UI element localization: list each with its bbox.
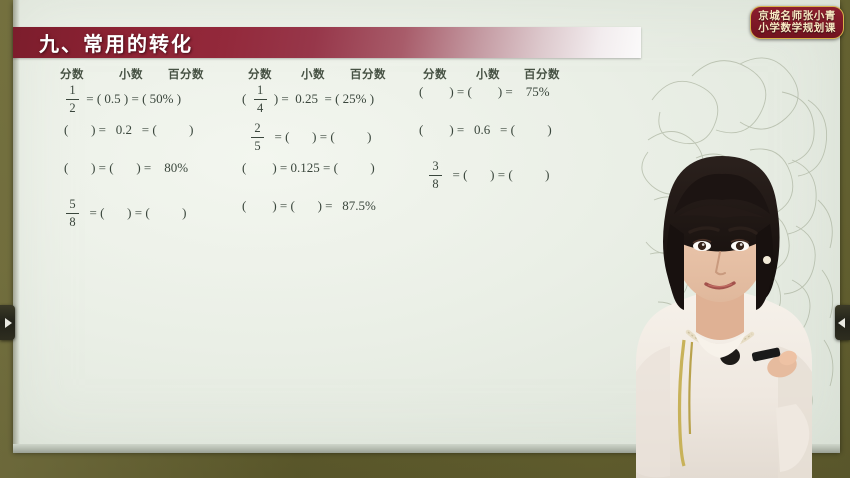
equation-text: ( ) = 0.125 = ( ) bbox=[241, 160, 376, 176]
conversion-table: 分数小数百分数分数小数百分数分数小数百分数 12 = ( 0.5 ) = ( 5… bbox=[13, 66, 653, 236]
left-panel-toggle-button[interactable] bbox=[0, 305, 15, 340]
fraction-bar bbox=[254, 99, 267, 100]
column-header: 小数 bbox=[301, 66, 325, 82]
fraction-denominator: 2 bbox=[67, 101, 77, 115]
video-slide-frame: 九、常用的转化 分数小数百分数分数小数百分数分数小数百分数 12 = ( 0.5… bbox=[0, 0, 850, 478]
column-header: 分数 bbox=[248, 66, 272, 82]
watermark-line-2: 小学数学规划课 bbox=[758, 22, 836, 34]
equation-expression: ( 14 ) = 0.25 = ( 25% ) bbox=[241, 84, 375, 114]
equation-row: 12 = ( 0.5 ) = ( 50% )( 14 ) = 0.25 = ( … bbox=[13, 84, 653, 122]
column-header: 百分数 bbox=[350, 66, 386, 82]
equation-text: ( ) = ( ) = 75% bbox=[418, 84, 551, 100]
equation-text: ( ) = 0.2 = ( ) bbox=[63, 122, 194, 138]
equation-expression: ( ) = 0.6 = ( ) bbox=[418, 122, 553, 138]
slide-title-banner: 九、常用的转化 bbox=[13, 27, 641, 58]
column-header: 百分数 bbox=[524, 66, 560, 82]
equation-text: ( ) = 0.6 = ( ) bbox=[418, 122, 553, 138]
table-header-row: 分数小数百分数分数小数百分数分数小数百分数 bbox=[13, 66, 653, 84]
fraction-denominator: 4 bbox=[255, 101, 265, 115]
fraction: 12 bbox=[66, 84, 79, 114]
equation-expression: 25 = ( ) = ( ) bbox=[248, 122, 372, 152]
equation-row: 58 = ( ) = ( )( ) = ( ) = 87.5% bbox=[13, 198, 653, 236]
chevron-right-icon bbox=[5, 318, 12, 328]
equation-expression: ( ) = 0.2 = ( ) bbox=[63, 122, 194, 138]
fraction-bar bbox=[66, 213, 79, 214]
equation-expression: ( ) = 0.125 = ( ) bbox=[241, 160, 376, 176]
equation-text: ) = 0.25 = ( 25% ) bbox=[270, 91, 375, 107]
equation-expression: 58 = ( ) = ( ) bbox=[63, 198, 187, 228]
equation-expression: 12 = ( 0.5 ) = ( 50% ) bbox=[63, 84, 182, 114]
column-header: 分数 bbox=[60, 66, 84, 82]
fraction-numerator: 1 bbox=[67, 84, 77, 98]
right-panel-toggle-button[interactable] bbox=[835, 305, 850, 340]
column-header: 百分数 bbox=[168, 66, 204, 82]
fraction-bar bbox=[251, 137, 264, 138]
fraction-bar bbox=[429, 175, 442, 176]
fraction-denominator: 8 bbox=[67, 215, 77, 229]
fraction: 38 bbox=[429, 160, 442, 190]
equation-row: ( ) = ( ) = 80%( ) = 0.125 = ( )38 = ( )… bbox=[13, 160, 653, 198]
column-header: 分数 bbox=[423, 66, 447, 82]
equation-text: = ( 0.5 ) = ( 50% ) bbox=[82, 91, 182, 107]
watermark-line-1: 京城名师张小青 bbox=[758, 10, 836, 22]
column-header: 小数 bbox=[476, 66, 500, 82]
equation-expression: ( ) = ( ) = 87.5% bbox=[241, 198, 377, 214]
fraction-denominator: 5 bbox=[252, 139, 262, 153]
equation-text: = ( ) = ( ) bbox=[445, 167, 550, 183]
fraction-denominator: 8 bbox=[430, 177, 440, 191]
table-body: 12 = ( 0.5 ) = ( 50% )( 14 ) = 0.25 = ( … bbox=[13, 84, 653, 236]
equation-expression: ( ) = ( ) = 80% bbox=[63, 160, 189, 176]
fraction: 58 bbox=[66, 198, 79, 228]
fraction: 25 bbox=[251, 122, 264, 152]
whiteboard-bottom-edge bbox=[13, 444, 840, 453]
equation-text: = ( ) = ( ) bbox=[267, 129, 372, 145]
fraction: 14 bbox=[254, 84, 267, 114]
equation-row: ( ) = 0.2 = ( )25 = ( ) = ( )( ) = 0.6 =… bbox=[13, 122, 653, 160]
equation-text: ( ) = ( ) = 80% bbox=[63, 160, 189, 176]
chevron-left-icon bbox=[838, 318, 845, 328]
column-header: 小数 bbox=[119, 66, 143, 82]
page-title: 九、常用的转化 bbox=[39, 28, 193, 57]
equation-text: ( bbox=[241, 91, 251, 107]
equation-expression: 38 = ( ) = ( ) bbox=[426, 160, 550, 190]
channel-watermark-badge: 京城名师张小青 小学数学规划课 bbox=[750, 6, 844, 39]
fraction-numerator: 3 bbox=[430, 160, 440, 174]
equation-expression: ( ) = ( ) = 75% bbox=[418, 84, 551, 100]
fraction-bar bbox=[66, 99, 79, 100]
fraction-numerator: 1 bbox=[255, 84, 265, 98]
fraction-numerator: 5 bbox=[67, 198, 77, 212]
equation-text: ( ) = ( ) = 87.5% bbox=[241, 198, 377, 214]
equation-text: = ( ) = ( ) bbox=[82, 205, 187, 221]
fraction-numerator: 2 bbox=[252, 122, 262, 136]
